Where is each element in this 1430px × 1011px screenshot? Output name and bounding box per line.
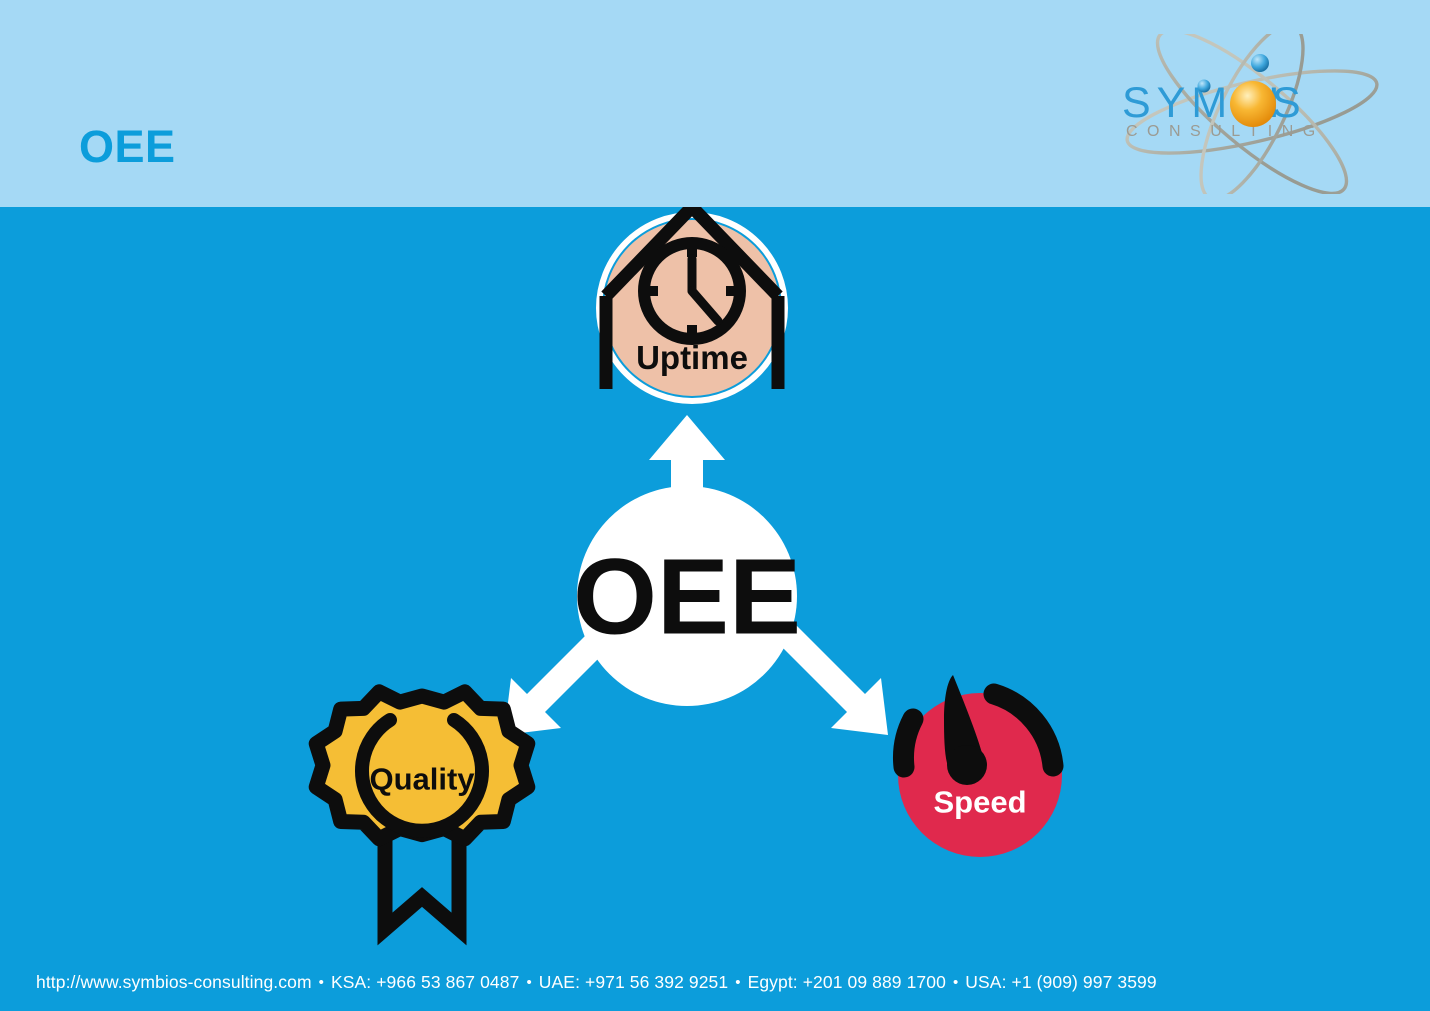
logo-tagline-text: CONSULTING <box>1126 123 1325 140</box>
footer-separator: • <box>946 974 965 991</box>
hub-label: OEE <box>573 536 801 657</box>
logo-electron-icon <box>1251 54 1269 72</box>
logo-nucleus-icon <box>1230 81 1276 127</box>
footer-contact-egypt: Egypt: +201 09 889 1700 <box>748 972 946 992</box>
logo-electron-icon <box>1198 80 1211 93</box>
symbios-logo: SYMBI S CONSULTING <box>1090 34 1420 194</box>
footer-contact-usa: USA: +1 (909) 997 3599 <box>965 972 1156 992</box>
footer-website[interactable]: http://www.symbios-consulting.com <box>36 972 312 992</box>
speed-label: Speed <box>933 785 1026 820</box>
footer-separator: • <box>312 974 331 991</box>
node-quality: Quality <box>316 692 528 929</box>
node-speed: Speed <box>898 675 1062 857</box>
logo-brand-text-tail: S <box>1272 79 1307 127</box>
footer-separator: • <box>519 974 538 991</box>
footer-contact-ksa: KSA: +966 53 867 0487 <box>331 972 519 992</box>
ribbon-icon <box>385 827 459 929</box>
gauge-arc-icon <box>903 719 913 767</box>
footer-separator: • <box>728 974 747 991</box>
gauge-hub-icon <box>947 745 987 785</box>
oee-hub: OEE <box>573 486 801 706</box>
footer-contact-uae: UAE: +971 56 392 9251 <box>539 972 728 992</box>
oee-diagram: OEE <box>0 207 1430 947</box>
slide: OEE <box>0 0 1430 1011</box>
footer-contact-bar: http://www.symbios-consulting.com•KSA: +… <box>36 972 1157 993</box>
quality-label: Quality <box>369 762 475 797</box>
uptime-label: Uptime <box>636 339 748 376</box>
node-uptime: Uptime <box>599 207 785 401</box>
page-title: OEE <box>79 124 176 169</box>
